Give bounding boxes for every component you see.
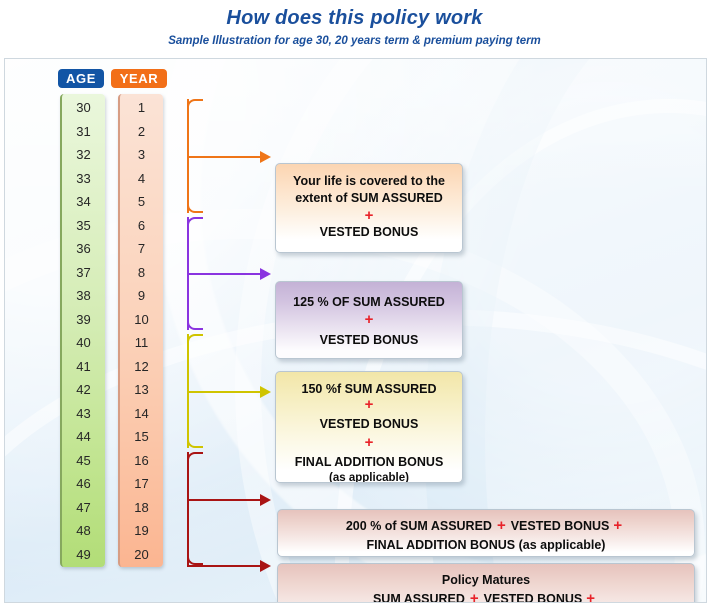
plus-icon: + xyxy=(492,517,511,534)
box5-text-b: VESTED BONUS xyxy=(484,592,583,603)
year-cell: 6 xyxy=(120,214,163,238)
age-cell: 44 xyxy=(62,425,105,449)
bracket-spine xyxy=(187,452,189,566)
benefit-box-1: Your life is covered to the extent of SU… xyxy=(275,163,463,253)
year-cell: 8 xyxy=(120,261,163,285)
plus-icon: + xyxy=(582,590,599,603)
arrow-line-group-2 xyxy=(187,273,261,275)
box5-text-a: SUM ASSURED xyxy=(373,592,465,603)
box4-line-2: FINAL ADDITION BONUS (as applicable) xyxy=(278,536,694,555)
age-cell: 32 xyxy=(62,143,105,167)
year-cell: 7 xyxy=(120,237,163,261)
box1-line-2: extent of SUM ASSURED xyxy=(276,190,462,207)
bracket-top-hook xyxy=(187,334,203,345)
year-cell: 16 xyxy=(120,449,163,473)
year-cell: 3 xyxy=(120,143,163,167)
age-cell: 46 xyxy=(62,472,105,496)
year-cell: 18 xyxy=(120,496,163,520)
age-cell: 36 xyxy=(62,237,105,261)
bracket-bottom-hook xyxy=(187,319,203,330)
box5-line-1: Policy Matures xyxy=(278,571,694,590)
year-cell: 17 xyxy=(120,472,163,496)
arrow-head-group-4 xyxy=(260,560,271,572)
year-cell: 11 xyxy=(120,331,163,355)
age-cell: 43 xyxy=(62,402,105,426)
box2-line-1: 125 % OF SUM ASSURED xyxy=(276,294,462,311)
diagram-panel: AGE YEAR 3031323334353637383940414243444… xyxy=(4,58,707,603)
bracket-bottom-hook xyxy=(187,554,203,565)
box4-line-1: 200 % of SUM ASSURED+VESTED BONUS+ xyxy=(278,517,694,536)
year-cell: 5 xyxy=(120,190,163,214)
bracket-top-hook xyxy=(187,452,203,463)
age-cell: 31 xyxy=(62,120,105,144)
page-header: How does this policy work Sample Illustr… xyxy=(0,0,709,58)
age-cell: 41 xyxy=(62,355,105,379)
plus-icon: + xyxy=(276,207,462,224)
plus-icon: + xyxy=(609,517,626,534)
box3-line-1: 150 %f SUM ASSURED xyxy=(276,381,462,397)
bracket-bottom-hook xyxy=(187,437,203,448)
year-cell: 4 xyxy=(120,167,163,191)
box5-line-2: SUM ASSURED+VESTED BONUS+ xyxy=(278,590,694,603)
age-cell: 48 xyxy=(62,519,105,543)
box4-text-a: 200 % of SUM ASSURED xyxy=(346,519,492,533)
year-cell: 19 xyxy=(120,519,163,543)
box1-line-3: VESTED BONUS xyxy=(276,224,462,241)
age-cell: 38 xyxy=(62,284,105,308)
arrow-head-group-3 xyxy=(260,386,271,398)
age-cell: 35 xyxy=(62,214,105,238)
age-cell: 34 xyxy=(62,190,105,214)
box4-text-b: VESTED BONUS xyxy=(511,519,610,533)
box2-line-2: VESTED BONUS xyxy=(276,332,462,349)
year-cell: 10 xyxy=(120,308,163,332)
box3-line-4: (as applicable) xyxy=(276,470,462,483)
plus-icon: + xyxy=(276,435,462,451)
year-cell: 12 xyxy=(120,355,163,379)
bracket-group-4 xyxy=(187,452,203,566)
age-cell: 49 xyxy=(62,543,105,567)
bracket-bottom-hook xyxy=(187,202,203,213)
age-cell: 33 xyxy=(62,167,105,191)
year-cell: 9 xyxy=(120,284,163,308)
age-column-badge: AGE xyxy=(58,69,104,88)
benefit-box-4: 200 % of SUM ASSURED+VESTED BONUS+ FINAL… xyxy=(277,509,695,557)
age-cell: 30 xyxy=(62,96,105,120)
age-column: 3031323334353637383940414243444546474849 xyxy=(60,94,105,567)
arrow-line-group-1 xyxy=(187,156,261,158)
year-cell: 1 xyxy=(120,96,163,120)
age-cell: 37 xyxy=(62,261,105,285)
plus-icon: + xyxy=(276,397,462,413)
page-title: How does this policy work xyxy=(0,7,709,30)
arrow-line-group-4 xyxy=(187,499,261,501)
arrow-line-group-4 xyxy=(187,565,261,567)
year-column: 1234567891011121314151617181920 xyxy=(118,94,163,567)
age-cell: 42 xyxy=(62,378,105,402)
benefit-box-3: 150 %f SUM ASSURED + VESTED BONUS + FINA… xyxy=(275,371,463,483)
box3-line-2: VESTED BONUS xyxy=(276,416,462,432)
plus-icon: + xyxy=(276,311,462,328)
benefit-box-5: Policy Matures SUM ASSURED+VESTED BONUS+… xyxy=(277,563,695,603)
year-cell: 15 xyxy=(120,425,163,449)
age-cell: 47 xyxy=(62,496,105,520)
year-cell: 14 xyxy=(120,402,163,426)
arrow-line-group-3 xyxy=(187,391,261,393)
arrow-head-group-2 xyxy=(260,268,271,280)
box1-line-1: Your life is covered to the xyxy=(276,173,462,190)
bracket-top-hook xyxy=(187,217,203,228)
arrow-head-group-4 xyxy=(260,494,271,506)
plus-icon: + xyxy=(465,590,484,603)
year-column-badge: YEAR xyxy=(111,69,167,88)
year-cell: 2 xyxy=(120,120,163,144)
arrow-head-group-1 xyxy=(260,151,271,163)
page-subtitle: Sample Illustration for age 30, 20 years… xyxy=(0,35,709,47)
year-cell: 13 xyxy=(120,378,163,402)
box3-line-3: FINAL ADDITION BONUS xyxy=(276,454,462,470)
age-cell: 39 xyxy=(62,308,105,332)
bracket-top-hook xyxy=(187,99,203,110)
year-cell: 20 xyxy=(120,543,163,567)
benefit-box-2: 125 % OF SUM ASSURED + VESTED BONUS xyxy=(275,281,463,359)
age-cell: 45 xyxy=(62,449,105,473)
age-cell: 40 xyxy=(62,331,105,355)
